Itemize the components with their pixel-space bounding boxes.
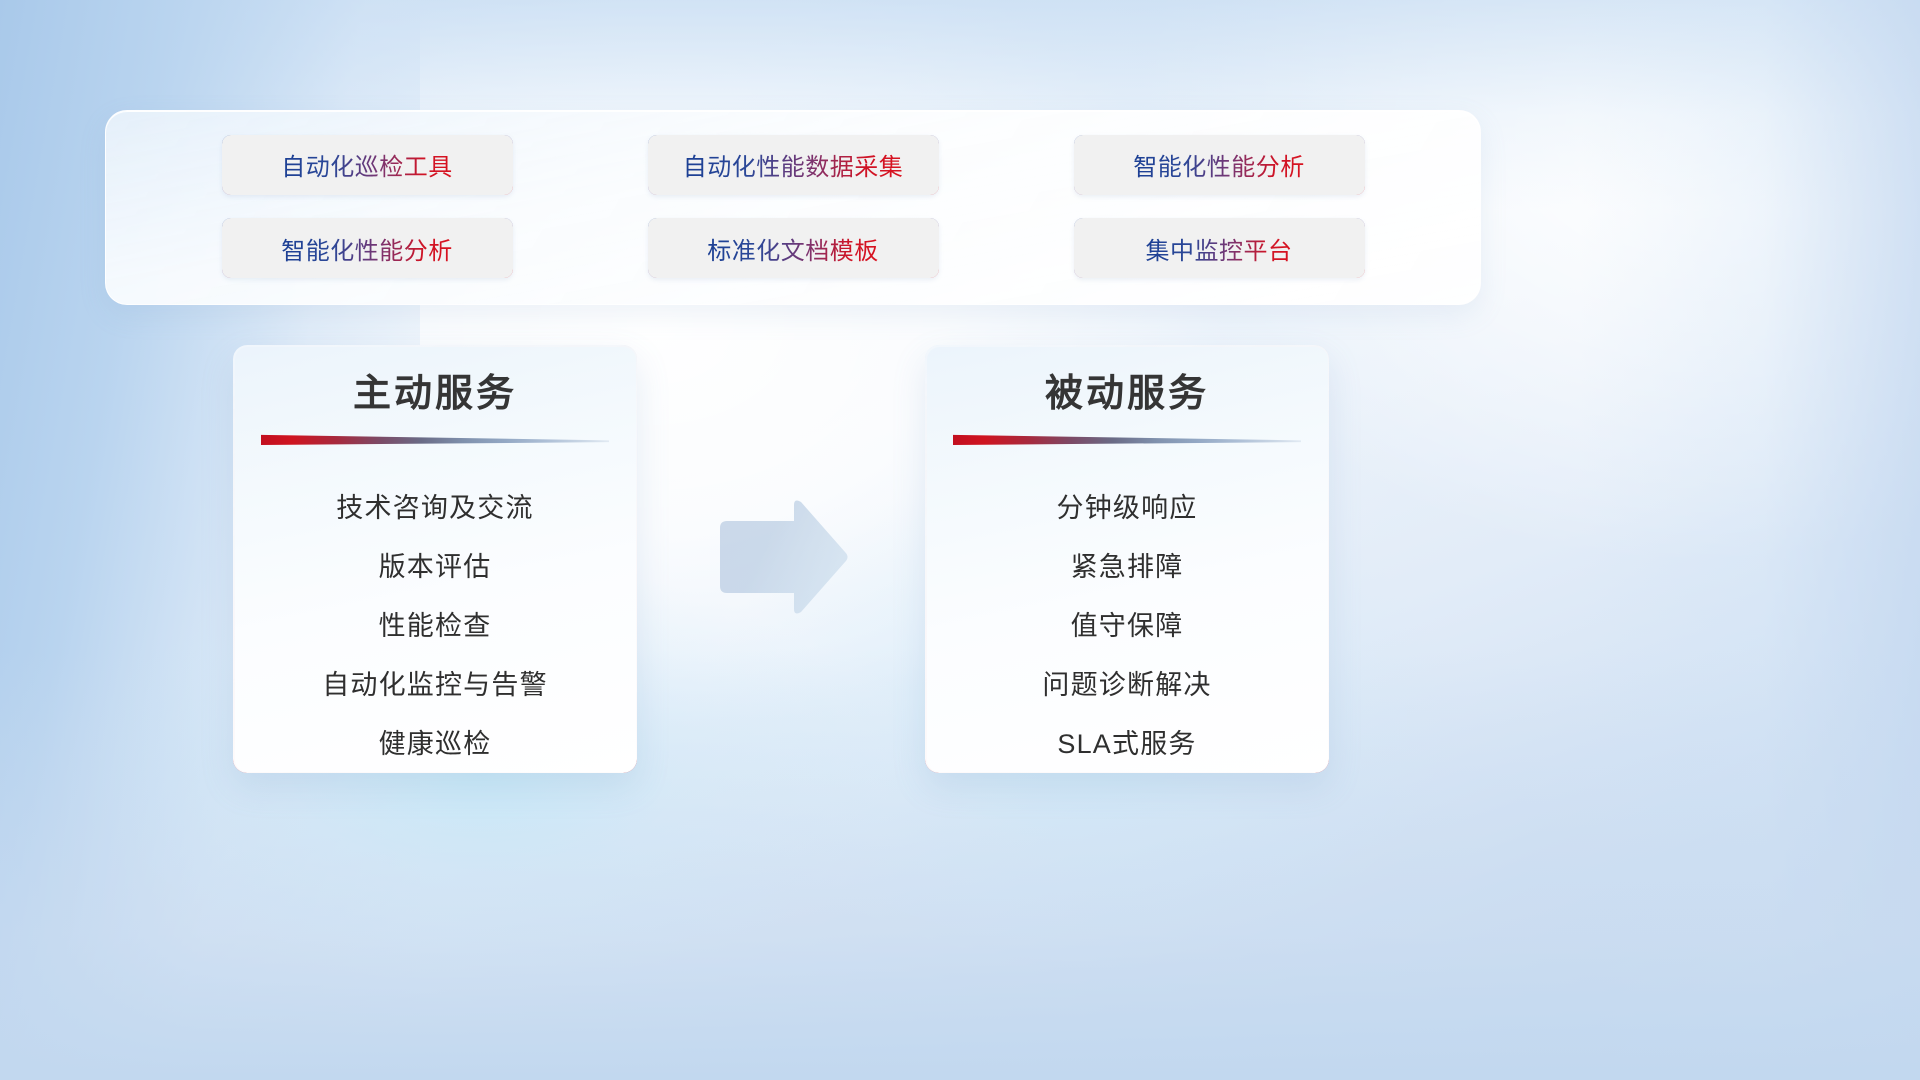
service-card-active: 主动服务 技术咨询及交流 版本评估 性能检查 自动化监控与告警 健康巡检 [233,345,637,773]
card-title: 主动服务 [235,347,636,419]
card-list: 技术咨询及交流 版本评估 性能检查 自动化监控与告警 健康巡检 [235,479,636,772]
tool-chip-label: 自动化性能数据采集 [683,147,904,182]
list-item: 分钟级响应 [1057,479,1198,538]
list-item: 技术咨询及交流 [336,479,533,538]
tools-grid: 自动化巡检工具 自动化性能数据采集 智能化性能分析 智能化性能分析 标准化文档模… [106,111,1480,304]
service-card-surface: 主动服务 技术咨询及交流 版本评估 性能检查 自动化监控与告警 健康巡检 [235,347,636,772]
list-item: SLA式服务 [1057,715,1196,772]
service-card-passive: 被动服务 分钟级响应 紧急排障 值守保障 问题诊断解决 SLA式服务 [925,345,1329,773]
list-item: 性能检查 [379,597,492,656]
list-item: 自动化监控与告警 [322,656,548,715]
card-divider-wedge [953,432,1301,445]
card-title: 被动服务 [927,347,1328,419]
tool-chip-label: 智能化性能分析 [281,231,453,266]
tool-chip-1[interactable]: 自动化性能数据采集 [648,135,939,195]
tool-chip-3[interactable]: 智能化性能分析 [222,218,513,278]
arrow-right-icon [716,498,850,616]
tool-chip-label: 自动化巡检工具 [281,147,453,182]
tool-chip-label: 标准化文档模板 [707,231,879,266]
tool-chip-surface: 标准化文档模板 [650,220,937,276]
tool-chip-surface: 智能化性能分析 [224,220,511,276]
tool-chip-4[interactable]: 标准化文档模板 [648,218,939,278]
tools-panel: 自动化巡检工具 自动化性能数据采集 智能化性能分析 智能化性能分析 标准化文档模… [105,110,1481,305]
tool-chip-surface: 自动化性能数据采集 [650,137,937,193]
list-item: 版本评估 [379,538,492,597]
tool-chip-5[interactable]: 集中监控平台 [1074,218,1365,278]
tool-chip-label: 集中监控平台 [1146,231,1293,266]
service-card-surface: 被动服务 分钟级响应 紧急排障 值守保障 问题诊断解决 SLA式服务 [927,347,1328,772]
list-item: 值守保障 [1071,597,1184,656]
card-list: 分钟级响应 紧急排障 值守保障 问题诊断解决 SLA式服务 [927,479,1328,772]
tool-chip-surface: 集中监控平台 [1076,220,1363,276]
tool-chip-surface: 自动化巡检工具 [224,137,511,193]
list-item: 问题诊断解决 [1042,656,1211,715]
list-item: 紧急排障 [1071,538,1184,597]
card-divider [953,432,1301,445]
tool-chip-2[interactable]: 智能化性能分析 [1074,135,1365,195]
card-divider [261,432,609,445]
card-divider-wedge [261,432,609,445]
tool-chip-0[interactable]: 自动化巡检工具 [222,135,513,195]
list-item: 健康巡检 [379,715,492,772]
tool-chip-label: 智能化性能分析 [1133,147,1305,182]
tool-chip-surface: 智能化性能分析 [1076,137,1363,193]
